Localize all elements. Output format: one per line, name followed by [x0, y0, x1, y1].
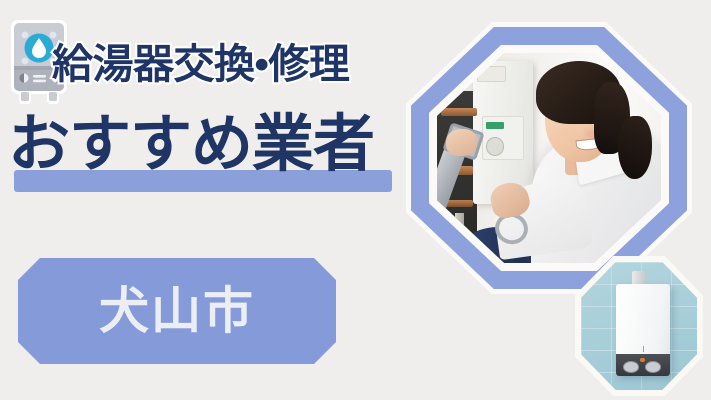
promo-banner: 給湯器交換•修理 おすすめ業者 犬山市: [0, 0, 711, 400]
product-knob-right: [645, 361, 661, 373]
product-photo-octagon: [575, 256, 703, 396]
photo-hand-upper: [446, 129, 477, 156]
photo-copper-pipe: [441, 108, 477, 116]
city-badge: 犬山市: [18, 258, 336, 364]
city-badge-label: 犬山市: [99, 286, 255, 336]
technician-photo-octagon: [406, 22, 692, 294]
product-control-panel: [616, 354, 671, 376]
headline-block: 給湯器交換•修理 おすすめ業者: [0, 36, 420, 226]
product-photo: [581, 262, 697, 390]
product-heater-slot: [643, 346, 644, 352]
photo-ponytail: [618, 116, 652, 179]
page-title: 給湯器交換•修理: [52, 44, 349, 85]
photo-heater-green-label: [486, 122, 504, 128]
photo-heater-dial: [486, 137, 504, 156]
product-indicator-light: [640, 358, 644, 361]
page-subtitle: おすすめ業者: [8, 114, 374, 176]
product-knob-left: [623, 361, 639, 373]
subtitle-block: おすすめ業者: [8, 114, 408, 206]
